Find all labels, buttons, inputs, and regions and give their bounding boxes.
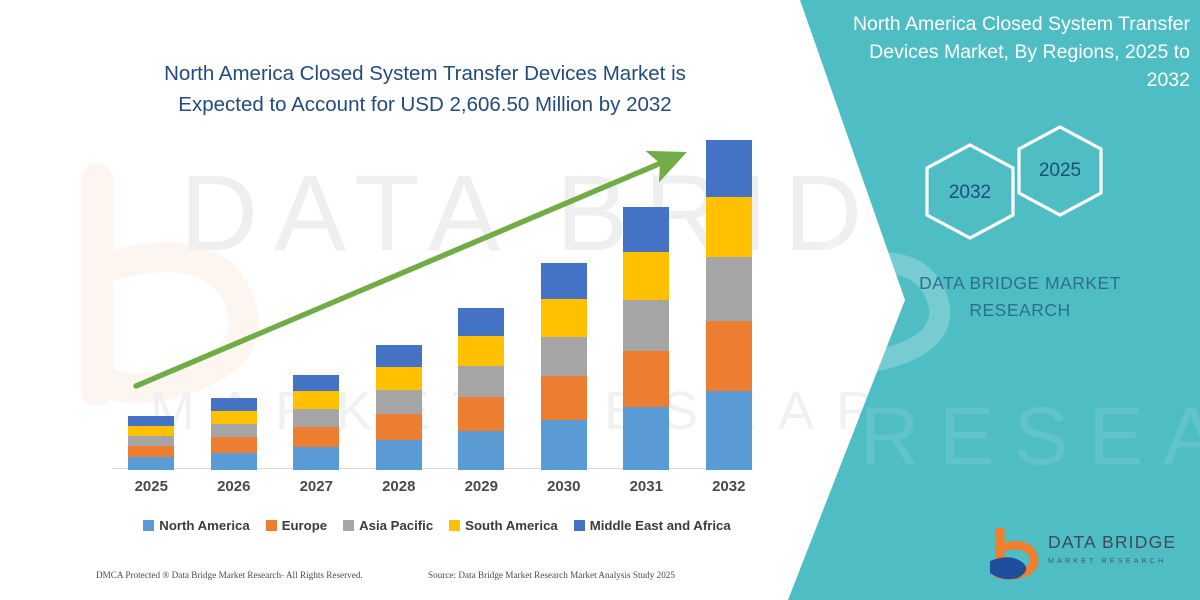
legend-item[interactable]: Asia Pacific: [343, 518, 433, 533]
chart-legend: North AmericaEuropeAsia PacificSouth Ame…: [112, 518, 762, 533]
legend-label: North America: [159, 518, 249, 533]
panel-brand-line2: RESEARCH: [850, 297, 1190, 324]
bar-segment: [376, 367, 422, 390]
bar-segment: [623, 407, 669, 470]
bar-segment: [211, 453, 257, 470]
bar-segment: [376, 414, 422, 440]
bar-segment: [293, 391, 339, 408]
bar-2028: [376, 345, 422, 470]
x-axis-label-2027: 2027: [281, 478, 351, 495]
hexagon-group: 2032 2025: [910, 125, 1140, 240]
bar-segment: [211, 424, 257, 437]
bar-segment: [706, 257, 752, 320]
x-axis-label-2032: 2032: [694, 478, 764, 495]
bar-segment: [376, 440, 422, 470]
legend-swatch-icon: [449, 520, 460, 531]
bar-segment: [211, 437, 257, 452]
bar-segment: [541, 263, 587, 299]
hexagon-label-2025: 2025: [945, 160, 1175, 182]
bar-segment: [623, 252, 669, 300]
legend-item[interactable]: South America: [449, 518, 558, 533]
panel-title: North America Closed System Transfer Dev…: [850, 10, 1190, 94]
bar-segment: [128, 457, 174, 470]
bar-segment: [623, 351, 669, 407]
legend-item[interactable]: North America: [143, 518, 249, 533]
x-axis-label-2030: 2030: [529, 478, 599, 495]
legend-label: Europe: [282, 518, 327, 533]
bar-segment: [376, 390, 422, 414]
bar-segment: [458, 308, 504, 336]
bar-segment: [541, 376, 587, 420]
legend-swatch-icon: [143, 520, 154, 531]
bar-segment: [458, 431, 504, 470]
bar-segment: [376, 345, 422, 366]
bar-segment: [458, 366, 504, 397]
x-axis-label-2031: 2031: [611, 478, 681, 495]
panel-brand: DATA BRIDGE MARKET RESEARCH: [850, 270, 1190, 324]
bar-segment: [541, 337, 587, 377]
chart-plot-area: [110, 140, 770, 470]
bar-2026: [211, 398, 257, 470]
bar-segment: [706, 321, 752, 391]
bar-segment: [706, 197, 752, 257]
bar-segment: [293, 447, 339, 470]
panel-brand-line1: DATA BRIDGE MARKET: [850, 270, 1190, 297]
legend-swatch-icon: [574, 520, 585, 531]
bar-segment: [293, 427, 339, 447]
legend-label: Asia Pacific: [359, 518, 433, 533]
bar-segment: [458, 336, 504, 366]
bar-segment: [623, 300, 669, 351]
bar-segment: [706, 391, 752, 470]
footer-source: Source: Data Bridge Market Research Mark…: [428, 570, 675, 580]
bar-2031: [623, 207, 669, 470]
bar-segment: [293, 375, 339, 392]
stacked-bar-chart: 20252026202720282029203020312032: [0, 0, 800, 600]
infographic-root: DATA BRIDGE MARKET RESEARCH RESEARCH Nor…: [0, 0, 1200, 600]
x-axis-label-2026: 2026: [199, 478, 269, 495]
x-axis-label-2029: 2029: [446, 478, 516, 495]
bar-2030: [541, 263, 587, 470]
dbmr-logo-text: DATA BRIDGE MARKET RESEARCH: [1048, 532, 1176, 565]
legend-swatch-icon: [266, 520, 277, 531]
bar-segment: [211, 411, 257, 424]
legend-label: Middle East and Africa: [590, 518, 731, 533]
bar-segment: [293, 409, 339, 427]
x-axis-label-2025: 2025: [116, 478, 186, 495]
dbmr-logo: DATA BRIDGE MARKET RESEARCH: [988, 528, 1188, 584]
legend-item[interactable]: Europe: [266, 518, 327, 533]
dbmr-logo-mark: [988, 528, 1046, 580]
bar-segment: [128, 416, 174, 426]
dbmr-logo-tagline: MARKET RESEARCH: [1048, 556, 1176, 565]
legend-item[interactable]: Middle East and Africa: [574, 518, 731, 533]
hexagon-label-2032: 2032: [855, 182, 1085, 204]
x-axis-label-2028: 2028: [364, 478, 434, 495]
bar-segment: [128, 446, 174, 457]
legend-swatch-icon: [343, 520, 354, 531]
bar-2025: [128, 416, 174, 470]
bar-segment: [211, 398, 257, 411]
bar-2032: [706, 140, 752, 470]
legend-label: South America: [465, 518, 558, 533]
bar-2027: [293, 375, 339, 470]
right-panel-content: North America Closed System Transfer Dev…: [830, 0, 1200, 600]
bar-segment: [458, 397, 504, 431]
bar-segment: [541, 299, 587, 337]
footer-copyright: DMCA Protected ® Data Bridge Market Rese…: [96, 570, 363, 580]
bar-segment: [128, 436, 174, 446]
dbmr-logo-name: DATA BRIDGE: [1048, 532, 1176, 553]
bar-segment: [623, 207, 669, 252]
bar-2029: [458, 308, 504, 470]
bar-segment: [706, 140, 752, 197]
bar-segment: [541, 420, 587, 470]
bar-segment: [128, 426, 174, 436]
